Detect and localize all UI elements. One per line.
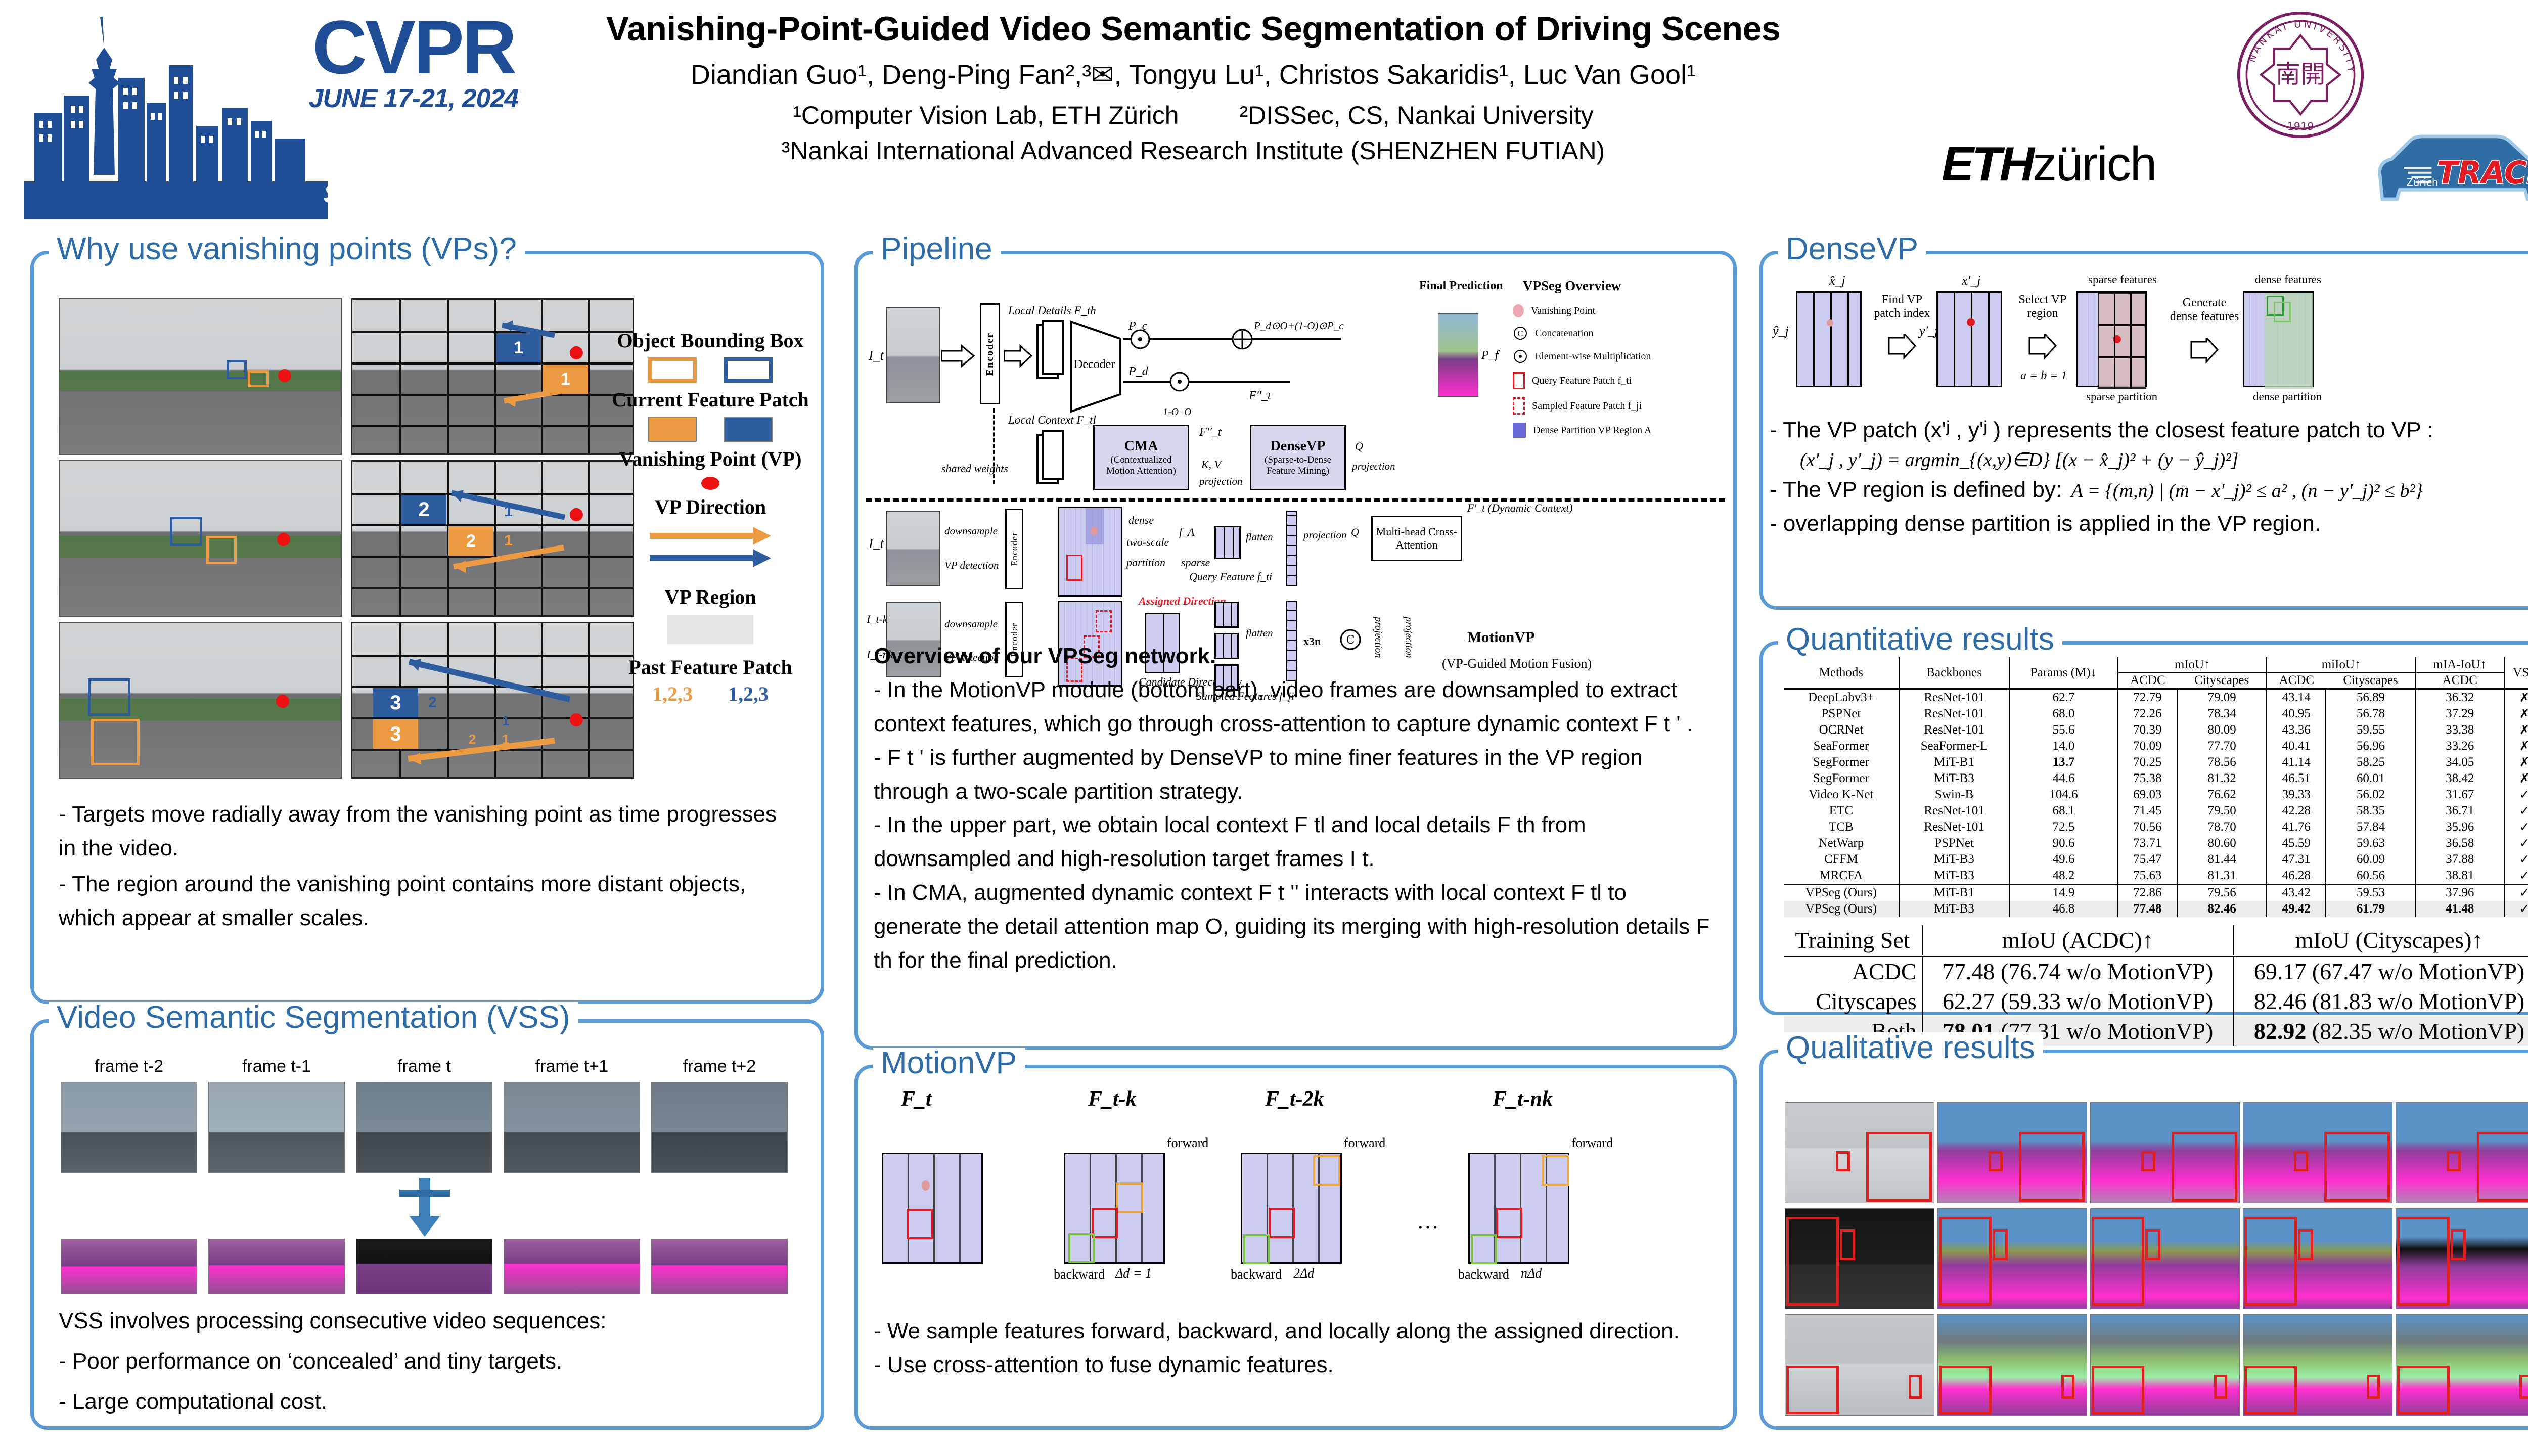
densevp-sparse-partition-label: sparse partition — [2086, 390, 2157, 403]
table-cell: SeaFormer-L — [1899, 738, 2009, 754]
table-cell: 38.42 — [2416, 770, 2504, 787]
table-cell: ResNet-101 — [1899, 706, 2009, 722]
densevp-grid-4 — [2243, 291, 2314, 387]
pipeline-label-vpdetect-1: VP detection — [944, 559, 999, 572]
table-cell: 68.0 — [2009, 706, 2118, 722]
vp-grid-3: 3 3 2 1 1 2 — [351, 622, 634, 779]
table-cell: 70.25 — [2118, 754, 2177, 770]
table-cell: ResNet-101 — [1899, 803, 2009, 819]
table-cell: 104.6 — [2009, 787, 2118, 803]
table-cell: 78.56 — [2177, 754, 2267, 770]
ablation-cell: 82.46 (81.83 w/o MotionVP) — [2234, 986, 2528, 1016]
eth-zurich-logo: ETH zürich — [1942, 136, 2295, 192]
author-list: Diandian Guo¹, Deng-Ping Fan²,³✉, Tongyu… — [506, 59, 1881, 90]
table-cell: 68.1 — [2009, 803, 2118, 819]
table-cell: NetWarp — [1784, 835, 1900, 851]
table-row: Video K-NetSwin-B104.669.0376.6239.3356.… — [1784, 787, 2528, 803]
table-cell: ResNet-101 — [1899, 689, 2009, 706]
vp-grid-1: 1 1 — [351, 298, 634, 455]
section-title-densevp: DenseVP — [1778, 234, 1926, 265]
vp-direction-arrows-3 — [352, 623, 634, 779]
pipeline-label-sparse: sparse — [1181, 556, 1210, 569]
table-cell: MiT-B3 — [1899, 901, 2009, 917]
table-cell: 70.09 — [2118, 738, 2177, 754]
motionvp-frame-label-3: F_t-nk — [1493, 1087, 1553, 1111]
section-title-quantitative: Quantitative results — [1778, 624, 2062, 655]
table-row: SegFormerMiT-B113.770.2578.5641.1458.253… — [1784, 754, 2528, 770]
pipeline-label-KV: K, V — [1201, 458, 1221, 471]
table-cell: MiT-B1 — [1899, 754, 2009, 770]
densevp-bullet-2: - overlapping dense partition is applied… — [1770, 507, 2528, 541]
poster-header: CVPR JUNE 17-21, 2024 SEATTLE, WA Vanish… — [0, 0, 2528, 230]
legend-text-query: Query Feature Patch f_ti — [1532, 375, 1632, 387]
table-row: OCRNetResNet-10155.670.3980.0943.3659.55… — [1784, 722, 2528, 738]
legend-label-current-patch: Current Feature Patch — [604, 388, 817, 412]
quantitative-tables: MethodsBackbonesParams (M)↓mIoU↑miIoU↑mI… — [1775, 657, 2528, 1046]
vss-frame-label-0: frame t-2 — [61, 1057, 197, 1076]
table-cell: ✓ — [2504, 803, 2528, 819]
table-cell: 39.33 — [2267, 787, 2326, 803]
qual-seg-r1c1 — [1937, 1208, 2087, 1309]
title-block: Vanishing-Point-Guided Video Semantic Se… — [506, 9, 1881, 165]
pipeline-label-Ftpp-2: F''_t — [1199, 426, 1222, 439]
qual-seg-r0c3 — [2243, 1102, 2392, 1203]
table-cell: Video K-Net — [1784, 787, 1900, 803]
pipeline-legend: Vanishing Point CConcatenation Element-w… — [1513, 304, 1715, 438]
pipeline-bullet-0: - In the MotionVP module (bottom part), … — [874, 673, 1718, 741]
motionvp-forward-label-3: forward — [1571, 1135, 1613, 1151]
ablation-results-table: Training SetmIoU (ACDC)↑mIoU (Cityscapes… — [1784, 925, 2528, 1046]
table-cell: ✗ — [2504, 722, 2528, 738]
table-row: MRCFAMiT-B348.275.6381.3146.2860.5638.81… — [1784, 868, 2528, 884]
table-cell: 61.79 — [2326, 901, 2416, 917]
why-vps-bullet-2: - The region around the vanishing point … — [59, 868, 792, 935]
table-cell: SegFormer — [1784, 754, 1900, 770]
legend-label-vp-region: VP Region — [604, 585, 817, 609]
pipeline-label-local-details: Local Details F_th — [1008, 304, 1096, 317]
road-photo-3 — [59, 622, 342, 779]
svg-text:C: C — [1517, 329, 1523, 338]
table-cell: 59.63 — [2326, 835, 2416, 851]
pipeline-mult-icon-2 — [1168, 370, 1191, 393]
pipeline-densevp-sub: (Sparse-to-Dense Feature Mining) — [1251, 454, 1344, 477]
legend-text-dense-region: Dense Partition VP Region A — [1533, 425, 1651, 436]
pipeline-label-Pf: P_f — [1481, 349, 1498, 362]
motionvp-grid-1 — [1064, 1153, 1165, 1264]
densevp-grid-2 — [1936, 291, 2002, 387]
table-cell: 81.32 — [2177, 770, 2267, 787]
table-cell: 46.51 — [2267, 770, 2326, 787]
table-cell: ✓ — [2504, 851, 2528, 868]
table-cell: 80.60 — [2177, 835, 2267, 851]
pipeline-encoder-2: Encoder — [1005, 509, 1023, 589]
table-cell: 69.03 — [2118, 787, 2177, 803]
table-cell: PSPNet — [1784, 706, 1900, 722]
vss-frame-label-3: frame t+1 — [504, 1057, 640, 1076]
densevp-step-1: Find VP patch index — [1872, 293, 1932, 321]
section-title-pipeline: Pipeline — [873, 234, 1001, 265]
pipeline-label-It-upper: I_t — [869, 348, 884, 363]
table-cell: 56.78 — [2326, 706, 2416, 722]
table-cell: CFFM — [1784, 851, 1900, 868]
table-cell: MiT-B3 — [1899, 770, 2009, 787]
motionvp-frame-label-0: F_t — [901, 1087, 932, 1111]
table-cell: 56.96 — [2326, 738, 2416, 754]
qual-seg-r2c1 — [1937, 1314, 2087, 1416]
table-cell: 81.44 — [2177, 851, 2267, 868]
qual-seg-r1c3 — [2243, 1208, 2392, 1309]
table-cell: 43.42 — [2267, 884, 2326, 901]
table-cell: 77.70 — [2177, 738, 2267, 754]
vss-bullet-2: - Large computational cost. — [59, 1385, 792, 1419]
table-cell: 43.14 — [2267, 689, 2326, 706]
pipeline-concat-icon — [1230, 327, 1255, 352]
pipeline-diagram: Final Prediction VPSeg Overview I_t Enco… — [866, 273, 1725, 627]
pipeline-densevp-box: DenseVP (Sparse-to-Dense Feature Mining) — [1250, 425, 1346, 490]
pipeline-label-Pd: P_d — [1128, 365, 1148, 379]
pipeline-encoder-2-label: Encoder — [1009, 532, 1020, 566]
eth-abbreviation: ETH — [1942, 136, 2033, 192]
nankai-university-logo-icon: 南開 1919 NANKAI UNIVERSITY — [2235, 9, 2366, 141]
qual-seg-r2c4 — [2396, 1314, 2528, 1416]
affiliation-3: ³Nankai International Advanced Research … — [506, 136, 1881, 165]
densevp-label-yprime: y'_j — [1919, 324, 1938, 339]
table-cell: ✓ — [2504, 787, 2528, 803]
table-cell: 47.31 — [2267, 851, 2326, 868]
orange-hollow-box-icon — [648, 357, 697, 383]
table-cell: PSPNet — [1899, 835, 2009, 851]
pipeline-label-projection-2: projection — [1352, 460, 1395, 473]
densevp-dense-features-label: dense features — [2255, 273, 2321, 286]
svg-text:Zürich: Zürich — [2406, 176, 2438, 188]
table-cell: ✓ — [2504, 835, 2528, 851]
densevp-text: - The VP patch (x'ʲ , y'ʲ ) represents t… — [1770, 414, 2528, 541]
pipeline-arrow-1-icon — [941, 344, 977, 369]
vss-input-frame-2 — [356, 1082, 492, 1173]
table-cell: 49.6 — [2009, 851, 2118, 868]
ablation-col-header: Training Set — [1784, 925, 1922, 956]
table-cell: ✓ — [2504, 901, 2528, 917]
table-cell: 82.46 — [2177, 901, 2267, 917]
table-cell: Swin-B — [1899, 787, 2009, 803]
table-cell: 45.59 — [2267, 835, 2326, 851]
affiliation-1: ¹Computer Vision Lab, ETH Zürich — [793, 101, 1179, 130]
seattle-skyline-icon — [24, 17, 328, 219]
table-cell: SeaFormer — [1784, 738, 1900, 754]
qual-seg-r0c4 — [2396, 1102, 2528, 1203]
svg-text:1919: 1919 — [2287, 120, 2314, 132]
past-numbers-blue: 1,2,3 — [728, 682, 769, 706]
table-cell: 40.95 — [2267, 706, 2326, 722]
table-cell: ✗ — [2504, 706, 2528, 722]
pipeline-label-assigned-direction: Assigned Direction — [1139, 595, 1226, 608]
densevp-formula-2: A = {(m,n) | (m − x'_j)² ≤ a² , (n − y'_… — [2071, 480, 2423, 502]
table-cell: MiT-B1 — [1899, 884, 2009, 901]
pipeline-label-Ftpp-1: F''_t — [1249, 389, 1271, 403]
motionvp-forward-label-2: forward — [1344, 1135, 1385, 1151]
pipeline-label-flatten-1: flatten — [1246, 531, 1273, 543]
main-results-table: MethodsBackbonesParams (M)↓mIoU↑miIoU↑mI… — [1784, 657, 2528, 917]
table-cell: 60.56 — [2326, 868, 2416, 884]
table-cell: 31.67 — [2416, 787, 2504, 803]
legend-label-past-patch: Past Feature Patch — [604, 655, 817, 679]
table-cell: 79.09 — [2177, 689, 2267, 706]
motionvp-backward-label-3: backward — [1458, 1267, 1509, 1282]
table-cell: 40.41 — [2267, 738, 2326, 754]
why-vps-bullet-1: - Targets move radially away from the va… — [59, 798, 792, 866]
table-cell: TCB — [1784, 819, 1900, 835]
motionvp-bullet-1: - Use cross-attention to fuse dynamic fe… — [874, 1348, 1718, 1382]
table-header-row-1: MethodsBackbonesParams (M)↓mIoU↑miIoU↑mI… — [1784, 657, 2528, 673]
table-cell: OCRNet — [1784, 722, 1900, 738]
table-cell: 62.7 — [2009, 689, 2118, 706]
pipeline-label-two-scale: two-scale — [1126, 536, 1169, 549]
pipeline-cma-title: CMA — [1124, 438, 1158, 454]
pipeline-label-O: O — [1184, 406, 1191, 418]
table-cell: ✗ — [2504, 738, 2528, 754]
legend-label-vp-direction: VP Direction — [604, 495, 817, 519]
col-header: Methods — [1784, 657, 1900, 689]
table-cell: ✓ — [2504, 868, 2528, 884]
densevp-bullet-0: - The VP patch (x'ʲ , y'ʲ ) represents t… — [1770, 414, 2528, 447]
table-cell: 58.35 — [2326, 803, 2416, 819]
svg-text:TRACE: TRACE — [2437, 155, 2528, 191]
legend-vp-icon — [1513, 304, 1524, 317]
table-row: NetWarpPSPNet90.673.7180.6045.5959.6336.… — [1784, 835, 2528, 851]
pipeline-label-dense: dense — [1128, 514, 1154, 527]
col-subheader: Cityscapes — [2177, 673, 2267, 689]
vss-frame-label-4: frame t+2 — [651, 1057, 788, 1076]
col-subheader: Cityscapes — [2326, 673, 2416, 689]
motionvp-frame-label-2: F_t-2k — [1265, 1087, 1324, 1111]
table-cell: 59.55 — [2326, 722, 2416, 738]
table-cell: 75.38 — [2118, 770, 2177, 787]
orange-filled-box-icon — [648, 417, 697, 442]
pipeline-label-1-O: 1-O — [1163, 406, 1179, 418]
pipeline-overview-heading: Overview of our VPSeg network. — [874, 640, 1718, 673]
road-photo-2 — [59, 460, 342, 617]
table-cell: 36.58 — [2416, 835, 2504, 851]
table-row: VPSeg (Ours)MiT-B114.972.8679.5643.4259.… — [1784, 884, 2528, 901]
vp-direction-arrows-1 — [352, 300, 634, 455]
densevp-step-3: Generate dense features — [2169, 296, 2240, 324]
pipeline-final-prediction-image — [1438, 313, 1478, 397]
section-title-why-vps: Why use vanishing points (VPs)? — [49, 234, 525, 265]
densevp-diagram: x̂_j ŷ_j Find VP patch index x'_j y'_j S… — [1770, 273, 2528, 409]
table-cell: 58.25 — [2326, 754, 2416, 770]
qual-input-r1c0 — [1785, 1208, 1934, 1309]
motionvp-grid-2 — [1241, 1153, 1342, 1264]
vss-seg-frame-2 — [356, 1239, 492, 1294]
table-cell: 72.5 — [2009, 819, 2118, 835]
col-group-header: miIoU↑ — [2267, 657, 2415, 673]
pipeline-query-patch-grid — [1214, 526, 1241, 559]
pipeline-densevp-title: DenseVP — [1271, 438, 1326, 454]
table-cell: ✗ — [2504, 754, 2528, 770]
pipeline-label-local-context: Local Context F_tl — [1008, 414, 1096, 427]
pipeline-cross-attention-box: Multi-head Cross-Attention — [1371, 516, 1462, 561]
table-cell: 57.84 — [2326, 819, 2416, 835]
table-cell: 41.48 — [2416, 901, 2504, 917]
table-cell: 43.36 — [2267, 722, 2326, 738]
section-title-motionvp: MotionVP — [873, 1048, 1025, 1079]
vss-bullet-1: - Poor performance on ‘concealed’ and ti… — [59, 1345, 792, 1379]
ablation-col-header: mIoU (ACDC)↑ — [1922, 925, 2234, 956]
table-cell: 48.2 — [2009, 868, 2118, 884]
table-cell: 14.9 — [2009, 884, 2118, 901]
col-subheader: ACDC — [2267, 673, 2326, 689]
motionvp-delta-2: 2Δd — [1293, 1266, 1314, 1281]
pipeline-label-downsample-2: downsample — [944, 618, 998, 630]
table-row: CFFMMiT-B349.675.4781.4447.3160.0937.88✓ — [1784, 851, 2528, 868]
densevp-label-xprime: x'_j — [1962, 273, 1980, 288]
pipeline-label-query-feature: Query Feature f_ti — [1189, 570, 1272, 583]
pipeline-feature-map-sparse — [1058, 507, 1122, 597]
pipeline-label-partition: partition — [1126, 556, 1165, 569]
legend-past-numbers: 1,2,3 1,2,3 — [604, 682, 817, 706]
motionvp-delta-3: nΔd — [1521, 1266, 1542, 1281]
vp-grid-2: 2 2 1 1 — [351, 460, 634, 617]
table-cell: VPSeg (Ours) — [1784, 901, 1900, 917]
pipeline-decoder-label: Decoder — [1074, 358, 1115, 372]
table-cell: 33.38 — [2416, 722, 2504, 738]
table-cell: 42.28 — [2267, 803, 2326, 819]
vp-region-swatch-icon — [667, 615, 753, 644]
table-cell: 56.02 — [2326, 787, 2416, 803]
col-group-header: mIA-IoU↑ — [2416, 657, 2504, 673]
table-cell: 37.88 — [2416, 851, 2504, 868]
table-cell: MiT-B3 — [1899, 851, 2009, 868]
table-cell: 80.09 — [2177, 722, 2267, 738]
vss-seg-frame-0 — [61, 1239, 197, 1294]
legend-concat-icon: C — [1513, 326, 1528, 341]
pipeline-label-dynamic-context: F'_t (Dynamic Context) — [1467, 502, 1573, 515]
pipeline-bullet-3: - In CMA, augmented dynamic context F t … — [874, 876, 1718, 978]
table-cell: 77.48 — [2118, 901, 2177, 917]
motionvp-bullet-0: - We sample features forward, backward, … — [874, 1314, 1718, 1348]
table-cell: ETC — [1784, 803, 1900, 819]
table-cell: 60.09 — [2326, 851, 2416, 868]
cvpr-wordmark: CVPR JUNE 17-21, 2024 — [297, 11, 530, 114]
pipeline-label-flatten-2: flatten — [1246, 627, 1273, 640]
ablation-cell: 62.27 (59.33 w/o MotionVP) — [1922, 986, 2234, 1016]
legend-swatch-row-patch — [604, 417, 817, 442]
motionvp-grid-0 — [882, 1153, 983, 1264]
pipeline-arrow-2-icon — [1004, 344, 1034, 369]
densevp-arrow-1-icon — [1882, 334, 1920, 364]
pipeline-label-shared-weights: shared weights — [941, 462, 1008, 475]
legend-label-object-bbox: Object Bounding Box — [604, 329, 817, 352]
table-cell: VPSeg (Ours) — [1784, 884, 1900, 901]
densevp-condition: a = b = 1 — [2020, 369, 2067, 383]
ablation-row: Cityscapes62.27 (59.33 w/o MotionVP)82.4… — [1784, 986, 2528, 1016]
table-cell: 36.32 — [2416, 689, 2504, 706]
motionvp-backward-label-2: backward — [1231, 1267, 1282, 1282]
table-cell: 56.89 — [2326, 689, 2416, 706]
section-title-vss: Video Semantic Segmentation (VSS) — [49, 1002, 578, 1033]
table-cell: 71.45 — [2118, 803, 2177, 819]
table-cell: 72.79 — [2118, 689, 2177, 706]
col-header: VSS — [2504, 657, 2528, 689]
table-cell: 41.76 — [2267, 819, 2326, 835]
pipeline-label-fA: f_A — [1179, 526, 1195, 539]
red-dot-icon — [701, 477, 719, 490]
section-title-qualitative: Qualitative results — [1778, 1032, 2043, 1064]
motionvp-grid-3 — [1468, 1153, 1569, 1264]
table-cell: 90.6 — [2009, 835, 2118, 851]
densevp-sparse-features-label: sparse features — [2088, 273, 2157, 286]
table-cell: 38.81 — [2416, 868, 2504, 884]
legend-query-patch-icon — [1513, 372, 1525, 389]
table-cell: ✓ — [2504, 884, 2528, 901]
table-cell: ✓ — [2504, 819, 2528, 835]
cvpr-dates: JUNE 17-21, 2024 — [297, 83, 530, 114]
motionvp-diagram: F_t F_t-k F_t-2k F_t-nk … forward forwar… — [866, 1087, 1725, 1289]
densevp-dense-partition-label: dense partition — [2253, 390, 2322, 403]
table-cell: ✗ — [2504, 689, 2528, 706]
table-cell: 35.96 — [2416, 819, 2504, 835]
ablation-cell: Cityscapes — [1784, 986, 1922, 1016]
table-cell: 78.34 — [2177, 706, 2267, 722]
table-cell: 72.86 — [2118, 884, 2177, 901]
legend-text-sampled: Sampled Feature Patch f_ji — [1532, 400, 1642, 412]
legend-swatch-row-bbox — [604, 357, 817, 383]
legend-text-vp: Vanishing Point — [1531, 305, 1595, 317]
pipeline-label-blend-formula: P_d⊙O+(1-O)⊙P_c — [1254, 320, 1344, 332]
table-cell: 70.56 — [2118, 819, 2177, 835]
ablation-header-row: Training SetmIoU (ACDC)↑mIoU (Cityscapes… — [1784, 925, 2528, 956]
table-row: DeepLabv3+ResNet-10162.772.7979.0943.145… — [1784, 689, 2528, 706]
pipeline-bullet-2: - In the upper part, we obtain local con… — [874, 808, 1718, 876]
table-cell: 76.62 — [2177, 787, 2267, 803]
pipeline-flatten-vector-1 — [1286, 511, 1297, 586]
vss-input-frame-0 — [61, 1082, 197, 1173]
ablation-cell: ACDC — [1784, 956, 1922, 987]
col-subheader: ACDC — [2416, 673, 2504, 689]
blue-hollow-box-icon — [724, 357, 773, 383]
table-cell: 81.31 — [2177, 868, 2267, 884]
vss-input-frame-3 — [504, 1082, 640, 1173]
table-cell: 70.39 — [2118, 722, 2177, 738]
pipeline-label-overview: VPSeg Overview — [1523, 278, 1621, 294]
table-cell: 37.96 — [2416, 884, 2504, 901]
table-cell: 79.50 — [2177, 803, 2267, 819]
ablation-cell: 69.17 (67.47 w/o MotionVP) — [2234, 956, 2528, 987]
table-cell: 46.28 — [2267, 868, 2326, 884]
pipeline-cma-box: CMA (Contextualized Motion Attention) — [1093, 425, 1189, 490]
vss-seg-frame-4 — [651, 1239, 788, 1294]
pipeline-label-Q-1: Q — [1355, 440, 1363, 453]
table-cell: 75.63 — [2118, 868, 2177, 884]
pipeline-cross-attention-label: Multi-head Cross-Attention — [1373, 525, 1461, 552]
vp-direction-arrows-2 — [352, 462, 634, 617]
legend-arrows-icon — [629, 522, 791, 577]
cvpr-city: SEATTLE, WA — [297, 179, 530, 209]
densevp-grid-1 — [1796, 291, 1862, 387]
densevp-arrow-2-icon — [2022, 334, 2061, 364]
col-header: Params (M)↓ — [2009, 657, 2118, 689]
affiliation-row: ¹Computer Vision Lab, ETH Zürich ²DISSec… — [506, 101, 1881, 130]
table-cell: MiT-B3 — [1899, 868, 2009, 884]
table-row: PSPNetResNet-10168.072.2678.3440.9556.78… — [1784, 706, 2528, 722]
legend-text-concat: Concatenation — [1535, 328, 1594, 339]
col-header: Backbones — [1899, 657, 2009, 689]
densevp-arrow-3-icon — [2184, 338, 2223, 368]
vss-frame-label-2: frame t — [356, 1057, 492, 1076]
qual-input-r0c0 — [1785, 1102, 1934, 1203]
motionvp-backward-label-1: backward — [1054, 1267, 1105, 1282]
vss-seg-frame-1 — [208, 1239, 345, 1294]
